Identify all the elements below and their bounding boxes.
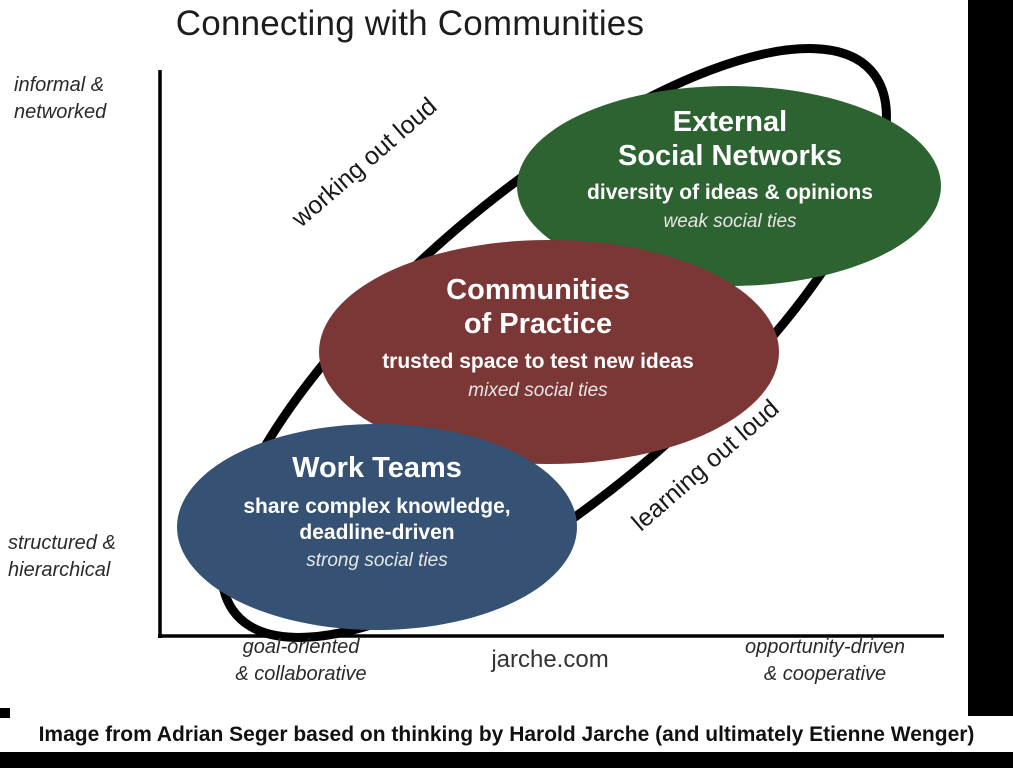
axis-label-line: informal & <box>14 72 154 99</box>
axis-label-structured-hierarchical: structured & hierarchical <box>8 530 156 584</box>
axis-label-line: hierarchical <box>8 557 156 584</box>
axis-label-line: & cooperative <box>700 661 950 688</box>
diagram-page: Connecting with Communities informal & n… <box>0 0 1013 768</box>
axis-label-line: goal-oriented <box>196 634 406 661</box>
axis-label-line: structured & <box>8 530 156 557</box>
source-attribution: jarche.com <box>430 646 670 674</box>
axis-label-informal-networked: informal & networked <box>14 72 154 126</box>
bubble-work-teams[interactable] <box>177 424 577 630</box>
axis-label-opportunity-driven: opportunity-driven & cooperative <box>700 634 950 688</box>
axis-label-line: & collaborative <box>196 661 406 688</box>
axis-label-goal-oriented: goal-oriented & collaborative <box>196 634 406 688</box>
page-title: Connecting with Communities <box>0 4 820 44</box>
right-black-bar <box>968 0 1013 716</box>
bottom-black-strip <box>0 752 1013 768</box>
axis-label-line: opportunity-driven <box>700 634 950 661</box>
axis-label-line: networked <box>14 99 154 126</box>
diagram-stage: Connecting with Communities informal & n… <box>0 0 968 716</box>
image-caption: Image from Adrian Seger based on thinkin… <box>0 718 1013 752</box>
